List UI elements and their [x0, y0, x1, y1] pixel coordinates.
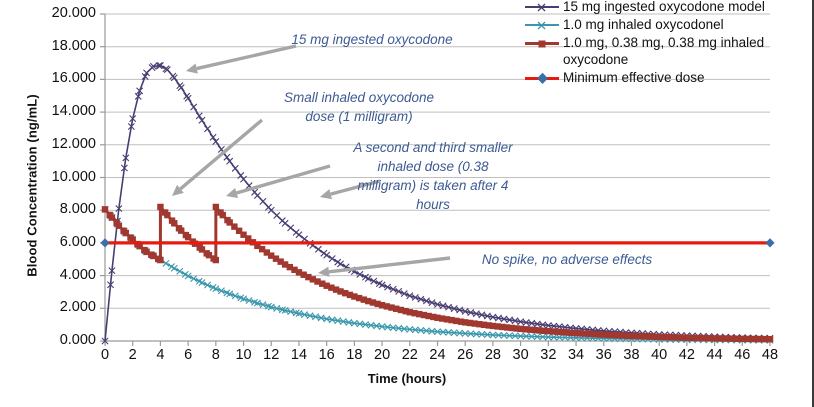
x-tick-label: 18 [339, 348, 369, 363]
x-tick-label: 12 [256, 348, 286, 363]
data-point-marker [224, 154, 230, 160]
annotation-line: Small inhaled oxycodone [253, 88, 465, 107]
x-tick-label: 32 [533, 348, 563, 363]
x-tick-label: 26 [450, 348, 480, 363]
x-tick-label: 10 [229, 348, 259, 363]
annotation-small-inhaled-dose: Small inhaled oxycodone dose (1 milligra… [253, 88, 465, 126]
arrow-shaft [180, 120, 262, 189]
arrow-head [186, 63, 198, 73]
data-point-marker [324, 252, 330, 258]
y-axis-title: Blood Concentration (ng/mL) [25, 56, 40, 316]
legend-item-label: 1.0 mg inhaled oxycodonel [563, 17, 724, 32]
y-tick-label: 20.000 [20, 6, 96, 21]
annotation-line: dose (1 milligram) [253, 107, 465, 126]
legend-item-label: Minimum effective dose [563, 70, 705, 85]
data-point-marker [163, 260, 169, 266]
data-point-marker [337, 261, 343, 267]
annotation-line: inhaled dose (0.38 [322, 157, 544, 176]
x-tick-label: 22 [395, 348, 425, 363]
annotation-line: 15 mg ingested oxycodone [291, 32, 452, 47]
data-point-marker [296, 232, 302, 238]
data-point-marker [185, 95, 191, 101]
x-axis-ticks: 0246810121416182022242628303234363840424… [0, 348, 814, 370]
data-point-marker [213, 204, 219, 210]
x-tick-label: 40 [644, 348, 674, 363]
x-tick-label: 20 [367, 348, 397, 363]
legend-item-2[interactable]: 1.0 mg, 0.38 mg, 0.38 mg inhaled oxycodo… [525, 34, 814, 68]
x-tick-label: 14 [284, 348, 314, 363]
x-tick-label: 42 [672, 348, 702, 363]
data-point-marker [227, 158, 233, 164]
annotation-line: hours [322, 195, 544, 214]
legend-marker-icon [536, 20, 547, 31]
data-point-marker [240, 176, 246, 182]
annotation-ingested-oxycodone: 15 mg ingested oxycodone [252, 30, 492, 49]
data-point-marker [365, 275, 371, 281]
y-tick-label: 0.000 [20, 333, 96, 348]
x-axis-title: Time (hours) [0, 371, 814, 386]
data-point-marker [102, 206, 108, 212]
data-point-marker [254, 192, 260, 198]
data-point-marker [371, 278, 377, 284]
data-point-marker [100, 238, 109, 247]
annotation-line: A second and third smaller [322, 138, 544, 157]
data-point-marker [157, 257, 163, 263]
annotation-line: No spike, no adverse effects [482, 252, 652, 267]
x-tick-label: 6 [173, 348, 203, 363]
data-point-marker [213, 257, 219, 263]
series-1 [102, 206, 773, 343]
legend-item-3[interactable]: Minimum effective dose [525, 69, 814, 86]
annotation-second-third-dose: A second and third smaller inhaled dose … [322, 138, 544, 214]
x-tick-label: 24 [423, 348, 453, 363]
x-tick-label: 2 [118, 348, 148, 363]
data-point-marker [157, 204, 163, 210]
data-point-marker [274, 212, 280, 218]
legend-item-label: 1.0 mg, 0.38 mg, 0.38 mg inhaled oxycodo… [563, 35, 764, 67]
chart-legend: 15 mg ingested oxycodone model1.0 mg inh… [525, 0, 814, 87]
legend-swatch-x-icon [525, 23, 559, 27]
x-tick-label: 16 [312, 348, 342, 363]
annotation-no-spike: No spike, no adverse effects [452, 250, 682, 269]
data-point-marker [171, 265, 177, 271]
data-point-marker [191, 104, 197, 110]
legend-swatch-x-icon [525, 5, 559, 9]
data-point-marker [301, 236, 307, 242]
arrow-shaft [237, 166, 330, 193]
data-point-marker [315, 246, 321, 252]
x-tick-label: 48 [755, 348, 785, 363]
data-point-marker [288, 225, 294, 231]
data-point-marker [204, 282, 210, 288]
data-point-marker [178, 84, 184, 90]
x-tick-label: 34 [561, 348, 591, 363]
data-point-marker [109, 214, 115, 220]
legend-marker-icon [536, 2, 547, 13]
data-point-marker [232, 165, 238, 171]
arrow-shaft [197, 46, 296, 69]
x-tick-label: 36 [589, 348, 619, 363]
data-point-marker [164, 212, 170, 218]
annotation-line: milligram) is taken after 4 [322, 176, 544, 195]
series-2 [102, 204, 773, 343]
x-tick-label: 8 [201, 348, 231, 363]
x-tick-label: 44 [700, 348, 730, 363]
x-tick-label: 28 [478, 348, 508, 363]
data-point-marker [171, 75, 177, 81]
arrow-shaft [329, 258, 450, 272]
legend-item-0[interactable]: 15 mg ingested oxycodone model [525, 0, 814, 15]
data-point-marker [177, 268, 183, 274]
x-tick-label: 38 [616, 348, 646, 363]
x-tick-label: 0 [90, 348, 120, 363]
data-point-marker [765, 238, 774, 247]
data-point-marker [204, 126, 210, 132]
legend-item-label: 15 mg ingested oxycodone model [563, 0, 765, 14]
legend-swatch-square-icon [525, 41, 559, 45]
data-point-marker [282, 220, 288, 226]
data-point-marker [260, 198, 266, 204]
x-tick-label: 4 [145, 348, 175, 363]
legend-marker-icon [537, 39, 547, 49]
legend-marker-icon [536, 72, 549, 85]
legend-swatch-diamond-icon [525, 76, 559, 80]
x-tick-label: 46 [727, 348, 757, 363]
chart-container: 0.0002.0004.0006.0008.00010.00012.00014.… [0, 0, 814, 407]
arrow-head [226, 188, 238, 198]
data-point-marker [767, 336, 773, 342]
y-tick-label: 18.000 [20, 39, 96, 54]
x-tick-label: 30 [506, 348, 536, 363]
legend-item-1[interactable]: 1.0 mg inhaled oxycodonel [525, 16, 814, 33]
data-point-marker [329, 256, 335, 262]
